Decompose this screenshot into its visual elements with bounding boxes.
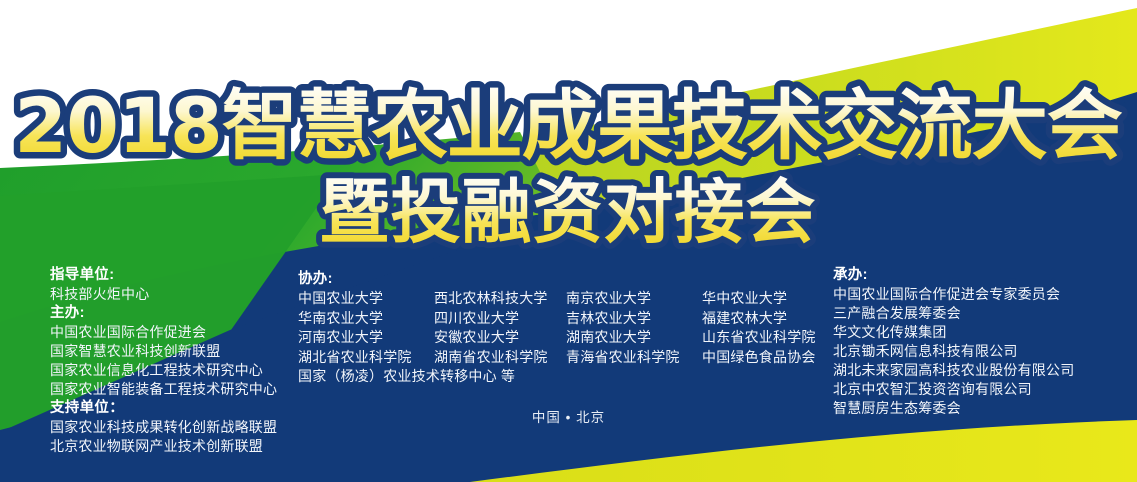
coorganizer-row: 湖北省农业科学院 湖南省农业科学院 青海省农业科学院 中国绿色食品协会 [298,348,818,368]
event-poster: 2018智慧农业成果技术交流大会 2018智慧农业成果技术交流大会 暨投融资对接… [0,0,1137,482]
coorganizer-item: 湖南省农业科学院 [434,348,566,368]
poster-info-block: 指导单位: 科技部火炬中心 主办: 中国农业国际合作促进会 国家智慧农业科技创新… [0,258,1137,482]
organizer-label: 承办: [833,266,1133,285]
organizer-item: 中国农业国际合作促进会专家委员会 [833,285,1133,304]
organizer-item: 华文文化传媒集团 [833,323,1133,342]
host-item: 国家农业智能装备工程技术研究中心 [50,380,300,399]
coorganizer-item: 华中农业大学 [702,289,787,309]
coorganizer-item: 青海省农业科学院 [566,348,702,368]
host-item: 国家智慧农业科技创新联盟 [50,342,300,361]
organizer-item: 北京锄禾网信息科技有限公司 [833,342,1133,361]
guidance-label: 指导单位: [50,266,300,285]
coorganizer-item: 吉林农业大学 [566,309,702,329]
coorganizer-item: 湖南农业大学 [566,328,702,348]
organizer-item: 北京中农智汇投资咨询有限公司 [833,380,1133,399]
host-item: 中国农业国际合作促进会 [50,323,300,342]
host-item: 国家农业信息化工程技术研究中心 [50,361,300,380]
coorganizer-last-line: 国家（杨凌）农业技术转移中心 等 [298,367,818,387]
coorganizer-label: 协办: [298,270,818,289]
coorganizer-item: 南京农业大学 [566,289,702,309]
coorganizer-item: 福建农林大学 [702,309,787,329]
coorganizer-item: 四川农业大学 [434,309,566,329]
coorganizer-item: 西北农林科技大学 [434,289,566,309]
coorganizer-item: 安徽农业大学 [434,328,566,348]
left-column: 指导单位: 科技部火炬中心 主办: 中国农业国际合作促进会 国家智慧农业科技创新… [50,266,300,456]
host-label: 主办: [50,304,300,323]
coorganizer-item: 中国农业大学 [298,289,434,309]
coorganizer-row: 华南农业大学 四川农业大学 吉林农业大学 福建农林大学 [298,309,818,329]
guidance-item: 科技部火炬中心 [50,285,300,304]
coorganizer-row: 中国农业大学 西北农林科技大学 南京农业大学 华中农业大学 [298,289,818,309]
coorganizer-item: 华南农业大学 [298,309,434,329]
support-item: 北京农业物联网产业技术创新联盟 [50,437,300,456]
coorganizer-item: 河南农业大学 [298,328,434,348]
right-column: 承办: 中国农业国际合作促进会专家委员会 三产融合发展筹委会 华文文化传媒集团 … [833,266,1133,418]
coorganizer-item: 湖北省农业科学院 [298,348,434,368]
coorganizer-item: 中国绿色食品协会 [702,348,816,368]
organizer-item: 湖北未来家园高科技农业股份有限公司 [833,361,1133,380]
coorganizer-item: 山东省农业科学院 [702,328,816,348]
location-text: 中国 • 北京 [0,406,1137,426]
coorganizer-row: 河南农业大学 安徽农业大学 湖南农业大学 山东省农业科学院 [298,328,818,348]
organizer-item: 三产融合发展筹委会 [833,304,1133,323]
middle-column: 协办: 中国农业大学 西北农林科技大学 南京农业大学 华中农业大学 华南农业大学… [298,270,818,387]
